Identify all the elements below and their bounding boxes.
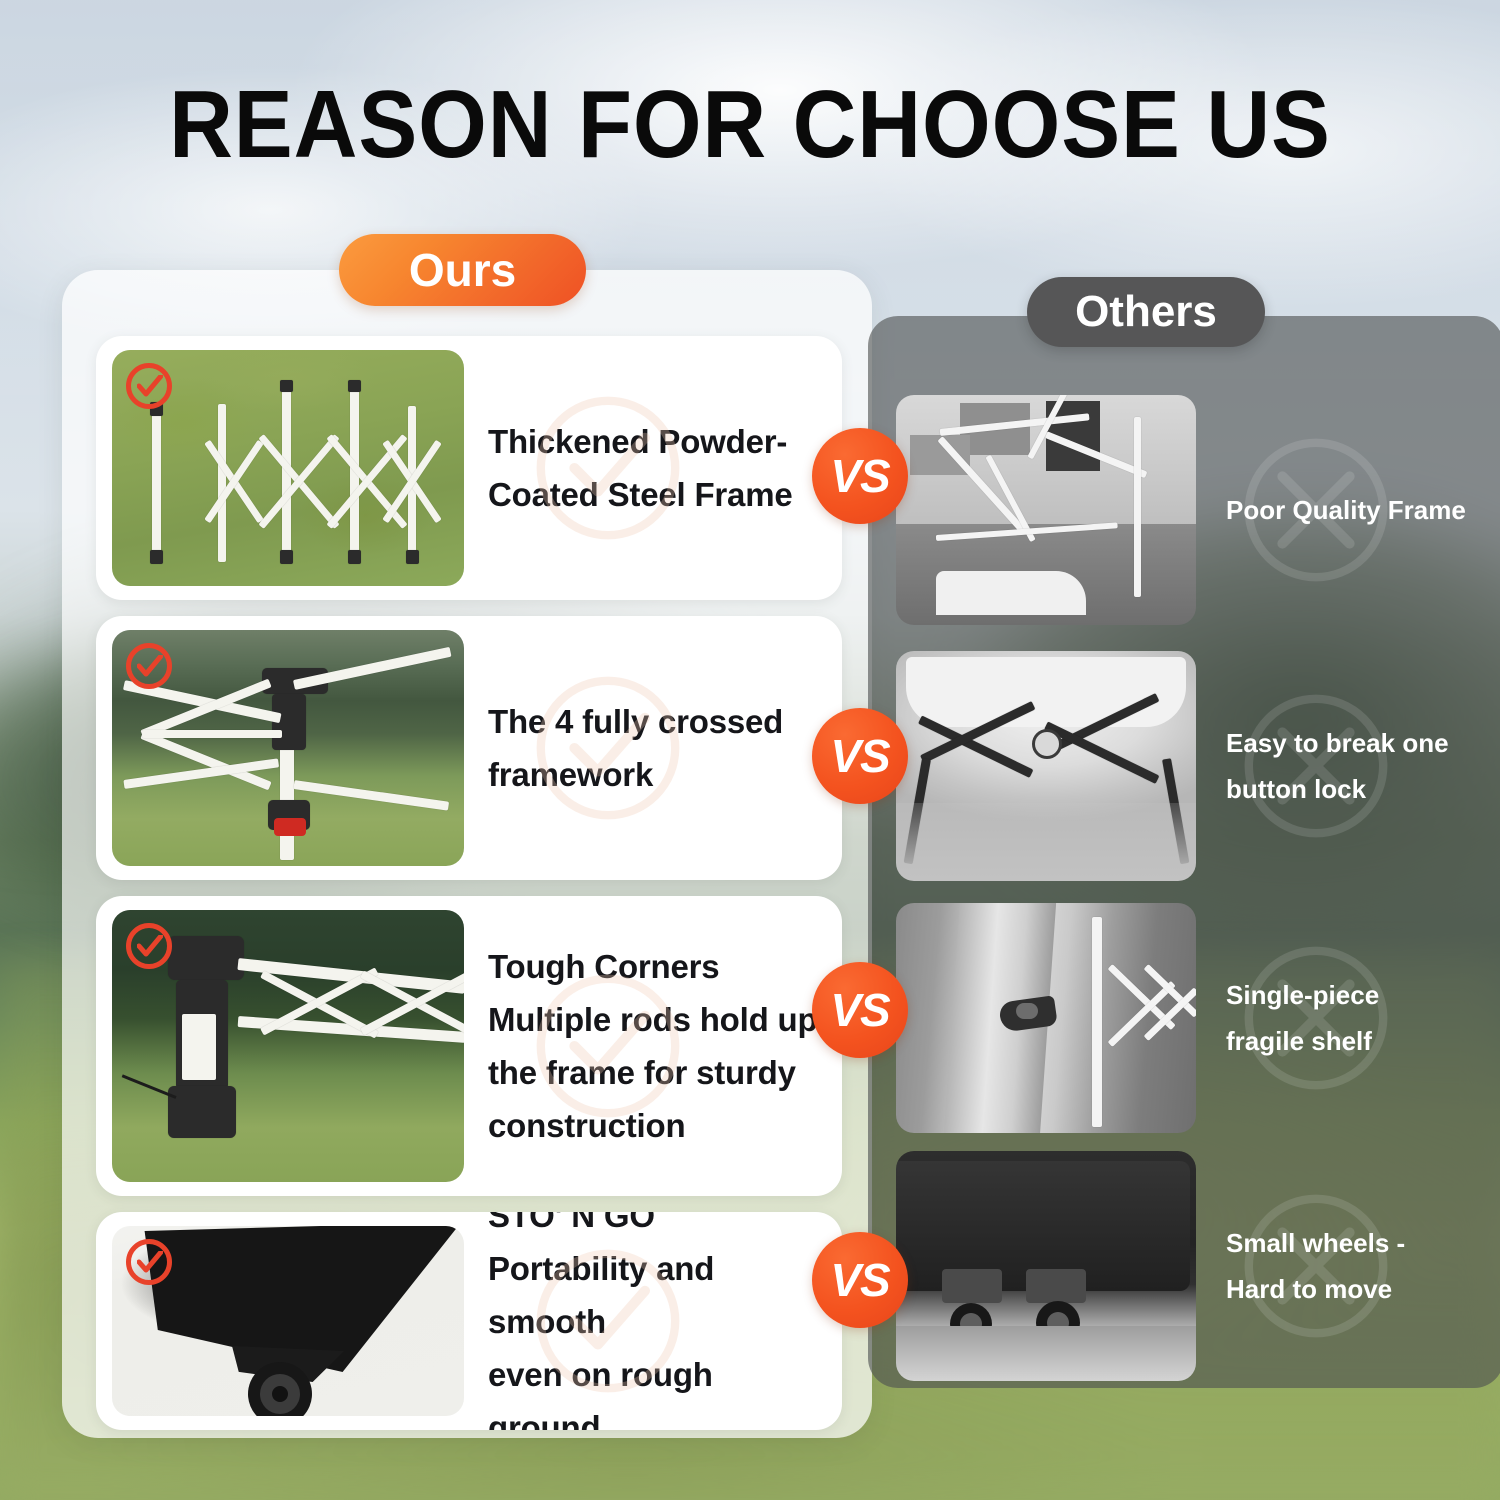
ours-thumb-2 <box>112 630 464 866</box>
others-row-3-line-1: Single-piece <box>1226 972 1466 1018</box>
others-row-1-line-1: Poor Quality Frame <box>1226 487 1466 533</box>
ours-row-4-line-3: even on rough ground <box>488 1348 828 1431</box>
ours-row-2-line-2: framework <box>488 748 828 801</box>
others-row-1-text: Poor Quality Frame <box>1196 487 1476 533</box>
ours-thumb-3 <box>112 910 464 1182</box>
ours-row-2-text: The 4 fully crossed framework <box>464 695 842 801</box>
vs-badge-4: VS <box>812 1232 908 1328</box>
canopy-underside-single-cross-photo <box>896 651 1196 881</box>
check-circle-icon <box>126 643 172 689</box>
page-title: REASON FOR CHOOSE US <box>60 73 1440 177</box>
others-row-4-text: Small wheels - Hard to move <box>1196 1220 1476 1312</box>
carry-bag-small-casters-photo <box>896 1151 1196 1381</box>
ours-row-1-line-1: Thickened Powder- <box>488 415 828 468</box>
others-row-3-line-2: fragile shelf <box>1226 1018 1466 1064</box>
others-row-1: Poor Quality Frame <box>896 388 1476 632</box>
check-circle-icon <box>126 1239 172 1285</box>
others-row-4-line-2: Hard to move <box>1226 1266 1466 1312</box>
ours-row-4-line-1: STO' N GO <box>488 1212 828 1242</box>
others-thumb-3 <box>896 903 1196 1133</box>
ours-row-4: STO' N GO Portability and smooth even on… <box>96 1212 842 1430</box>
collapsed-canopy-frame-driveway-photo <box>896 395 1196 625</box>
vs-badge-2: VS <box>812 708 908 804</box>
ours-column-badge: Ours <box>339 234 586 306</box>
infographic-canvas: REASON FOR CHOOSE US Ours Others <box>0 0 1500 1500</box>
others-row-2-text: Easy to break one button lock <box>1196 720 1476 812</box>
others-row-2: Easy to break one button lock <box>896 644 1476 888</box>
others-row-3-text: Single-piece fragile shelf <box>1196 972 1476 1064</box>
ours-row-3-line-4: construction <box>488 1099 828 1152</box>
ours-row-1: Thickened Powder- Coated Steel Frame <box>96 336 842 600</box>
others-row-4: Small wheels - Hard to move <box>896 1144 1476 1388</box>
ours-row-3-line-1: Tough Corners <box>488 940 828 993</box>
ours-thumb-4 <box>112 1226 464 1416</box>
others-row-2-line-2: button lock <box>1226 766 1466 812</box>
ours-row-1-text: Thickened Powder- Coated Steel Frame <box>464 415 842 521</box>
broken-single-piece-shelf-closeup-photo <box>896 903 1196 1133</box>
vs-badge-1: VS <box>812 428 908 524</box>
ours-row-4-line-2: Portability and smooth <box>488 1242 828 1348</box>
ours-row-3-line-2: Multiple rods hold up <box>488 993 828 1046</box>
others-column-badge: Others <box>1027 277 1265 347</box>
vs-badge-3: VS <box>812 962 908 1058</box>
ours-row-3: Tough Corners Multiple rods hold up the … <box>96 896 842 1196</box>
others-thumb-2 <box>896 651 1196 881</box>
ours-row-4-text: STO' N GO Portability and smooth even on… <box>464 1212 842 1430</box>
others-thumb-1 <box>896 395 1196 625</box>
check-circle-icon <box>126 923 172 969</box>
ours-thumb-1 <box>112 350 464 586</box>
others-thumb-4 <box>896 1151 1196 1381</box>
others-row-2-line-1: Easy to break one <box>1226 720 1466 766</box>
ours-row-3-line-3: the frame for sturdy <box>488 1046 828 1099</box>
others-row-3: Single-piece fragile shelf <box>896 896 1476 1140</box>
ours-row-2-line-1: The 4 fully crossed <box>488 695 828 748</box>
ours-row-2: The 4 fully crossed framework <box>96 616 842 880</box>
ours-row-3-text: Tough Corners Multiple rods hold up the … <box>464 940 842 1152</box>
ours-row-1-line-2: Coated Steel Frame <box>488 468 828 521</box>
check-circle-icon <box>126 363 172 409</box>
others-row-4-line-1: Small wheels - <box>1226 1220 1466 1266</box>
